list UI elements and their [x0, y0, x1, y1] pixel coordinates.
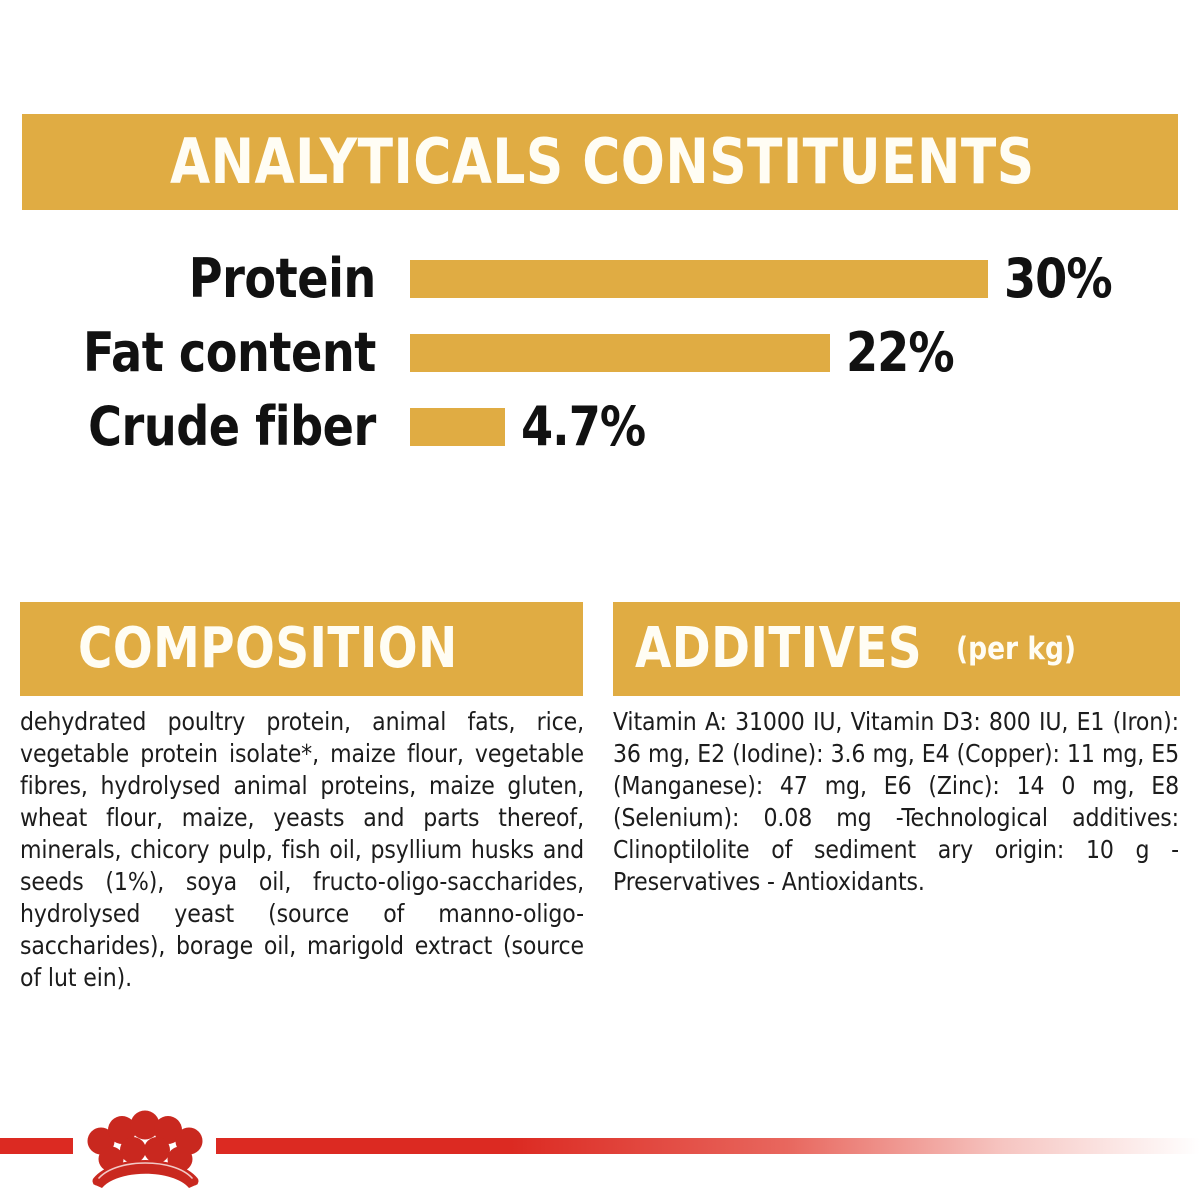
- brand-strip: [0, 1120, 1200, 1200]
- page-title: ANALYTICALS CONSTITUENTS: [170, 131, 1035, 193]
- brand-rule-left: [0, 1138, 73, 1154]
- analytical-constituents-banner: ANALYTICALS CONSTITUENTS: [22, 114, 1178, 210]
- additives-heading: ADDITIVES: [635, 621, 922, 677]
- additives-banner: ADDITIVES (per kg): [613, 602, 1180, 696]
- composition-body-text: dehydrated poultry protein, animal fats,…: [20, 706, 584, 994]
- bar-value-crude-fiber: 4.7%: [521, 400, 645, 454]
- additives-heading-suffix: (per kg): [956, 631, 1076, 667]
- brand-rule-right: [216, 1138, 1200, 1154]
- chart-row-fat-content: Fat content 22%: [0, 318, 1200, 388]
- additives-body-text: Vitamin A: 31000 IU, Vitamin D3: 800 IU,…: [613, 706, 1179, 898]
- bar-fill-protein: [410, 260, 988, 298]
- bar-track-protein: 30%: [410, 252, 1117, 306]
- bar-fill-fat-content: [410, 334, 830, 372]
- bar-track-crude-fiber: 4.7%: [410, 400, 652, 454]
- royal-canin-crown-icon: [73, 1092, 218, 1188]
- nutrition-panel: ANALYTICALS CONSTITUENTS Protein 30% Fat…: [0, 0, 1200, 1200]
- composition-heading: COMPOSITION: [78, 621, 458, 677]
- bar-label-fat-content: Fat content: [21, 326, 411, 380]
- composition-banner: COMPOSITION: [20, 602, 583, 696]
- chart-row-protein: Protein 30%: [0, 244, 1200, 314]
- constituents-bar-chart: Protein 30% Fat content 22% Crude fiber …: [0, 240, 1200, 470]
- chart-row-crude-fiber: Crude fiber 4.7%: [0, 392, 1200, 462]
- bar-fill-crude-fiber: [410, 408, 505, 446]
- bar-value-protein: 30%: [1004, 252, 1112, 306]
- bar-label-protein: Protein: [21, 252, 411, 306]
- bar-label-crude-fiber: Crude fiber: [21, 400, 411, 454]
- bar-track-fat-content: 22%: [410, 326, 959, 380]
- bar-value-fat-content: 22%: [846, 326, 954, 380]
